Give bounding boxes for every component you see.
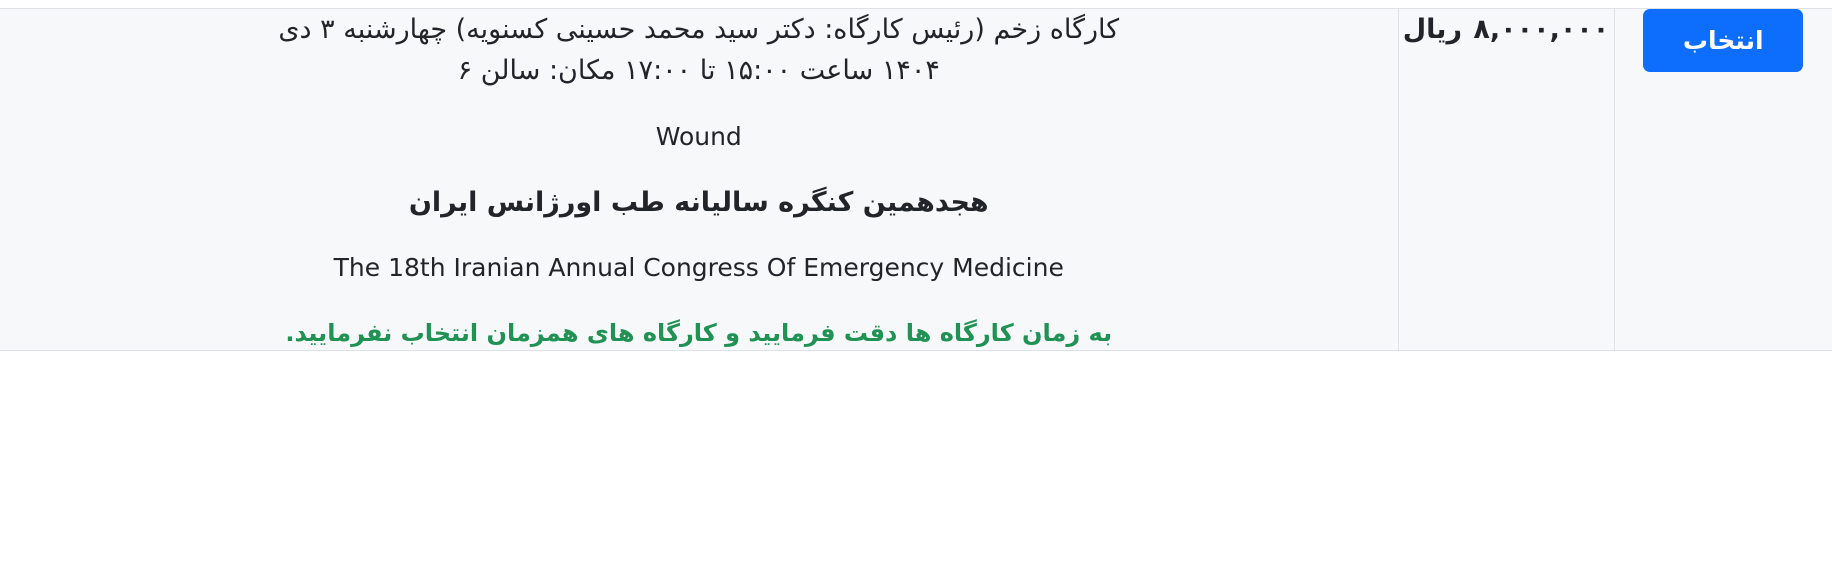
workshop-name-english: Wound xyxy=(0,119,1398,154)
congress-title-persian: هجدهمین کنگره سالیانه طب اورژانس ایران xyxy=(0,184,1398,222)
schedule-conflict-notice: به زمان کارگاه ها دقت فرمایید و کارگاه ه… xyxy=(0,317,1398,351)
price-cell: ۸,۰۰۰,۰۰۰ ریال xyxy=(1398,9,1614,351)
divider-cell-price xyxy=(1398,0,1614,9)
select-cell: انتخاب xyxy=(1614,9,1832,351)
select-workshop-button[interactable]: انتخاب xyxy=(1643,9,1803,72)
registration-table-wrapper: انتخاب ۸,۰۰۰,۰۰۰ ریال کارگاه زخم (رئیس ک… xyxy=(0,0,1832,578)
price-amount: ۸,۰۰۰,۰۰۰ ریال xyxy=(1399,9,1614,51)
workshop-title-line-2: ۱۴۰۴ ساعت ۱۵:۰۰ تا ۱۷:۰۰ مکان: سالن ۶ xyxy=(0,50,1398,91)
congress-title-english: The 18th Iranian Annual Congress Of Emer… xyxy=(0,250,1398,285)
workshop-title-line-1: کارگاه زخم (رئیس کارگاه: دکتر سید محمد ح… xyxy=(0,9,1398,50)
workshop-info-cell: کارگاه زخم (رئیس کارگاه: دکتر سید محمد ح… xyxy=(0,9,1398,351)
table-top-divider-row xyxy=(0,0,1832,9)
divider-cell-select xyxy=(1614,0,1832,9)
workshop-registration-table: انتخاب ۸,۰۰۰,۰۰۰ ریال کارگاه زخم (رئیس ک… xyxy=(0,0,1832,351)
divider-cell-info xyxy=(0,0,1398,9)
table-row: انتخاب ۸,۰۰۰,۰۰۰ ریال کارگاه زخم (رئیس ک… xyxy=(0,9,1832,351)
